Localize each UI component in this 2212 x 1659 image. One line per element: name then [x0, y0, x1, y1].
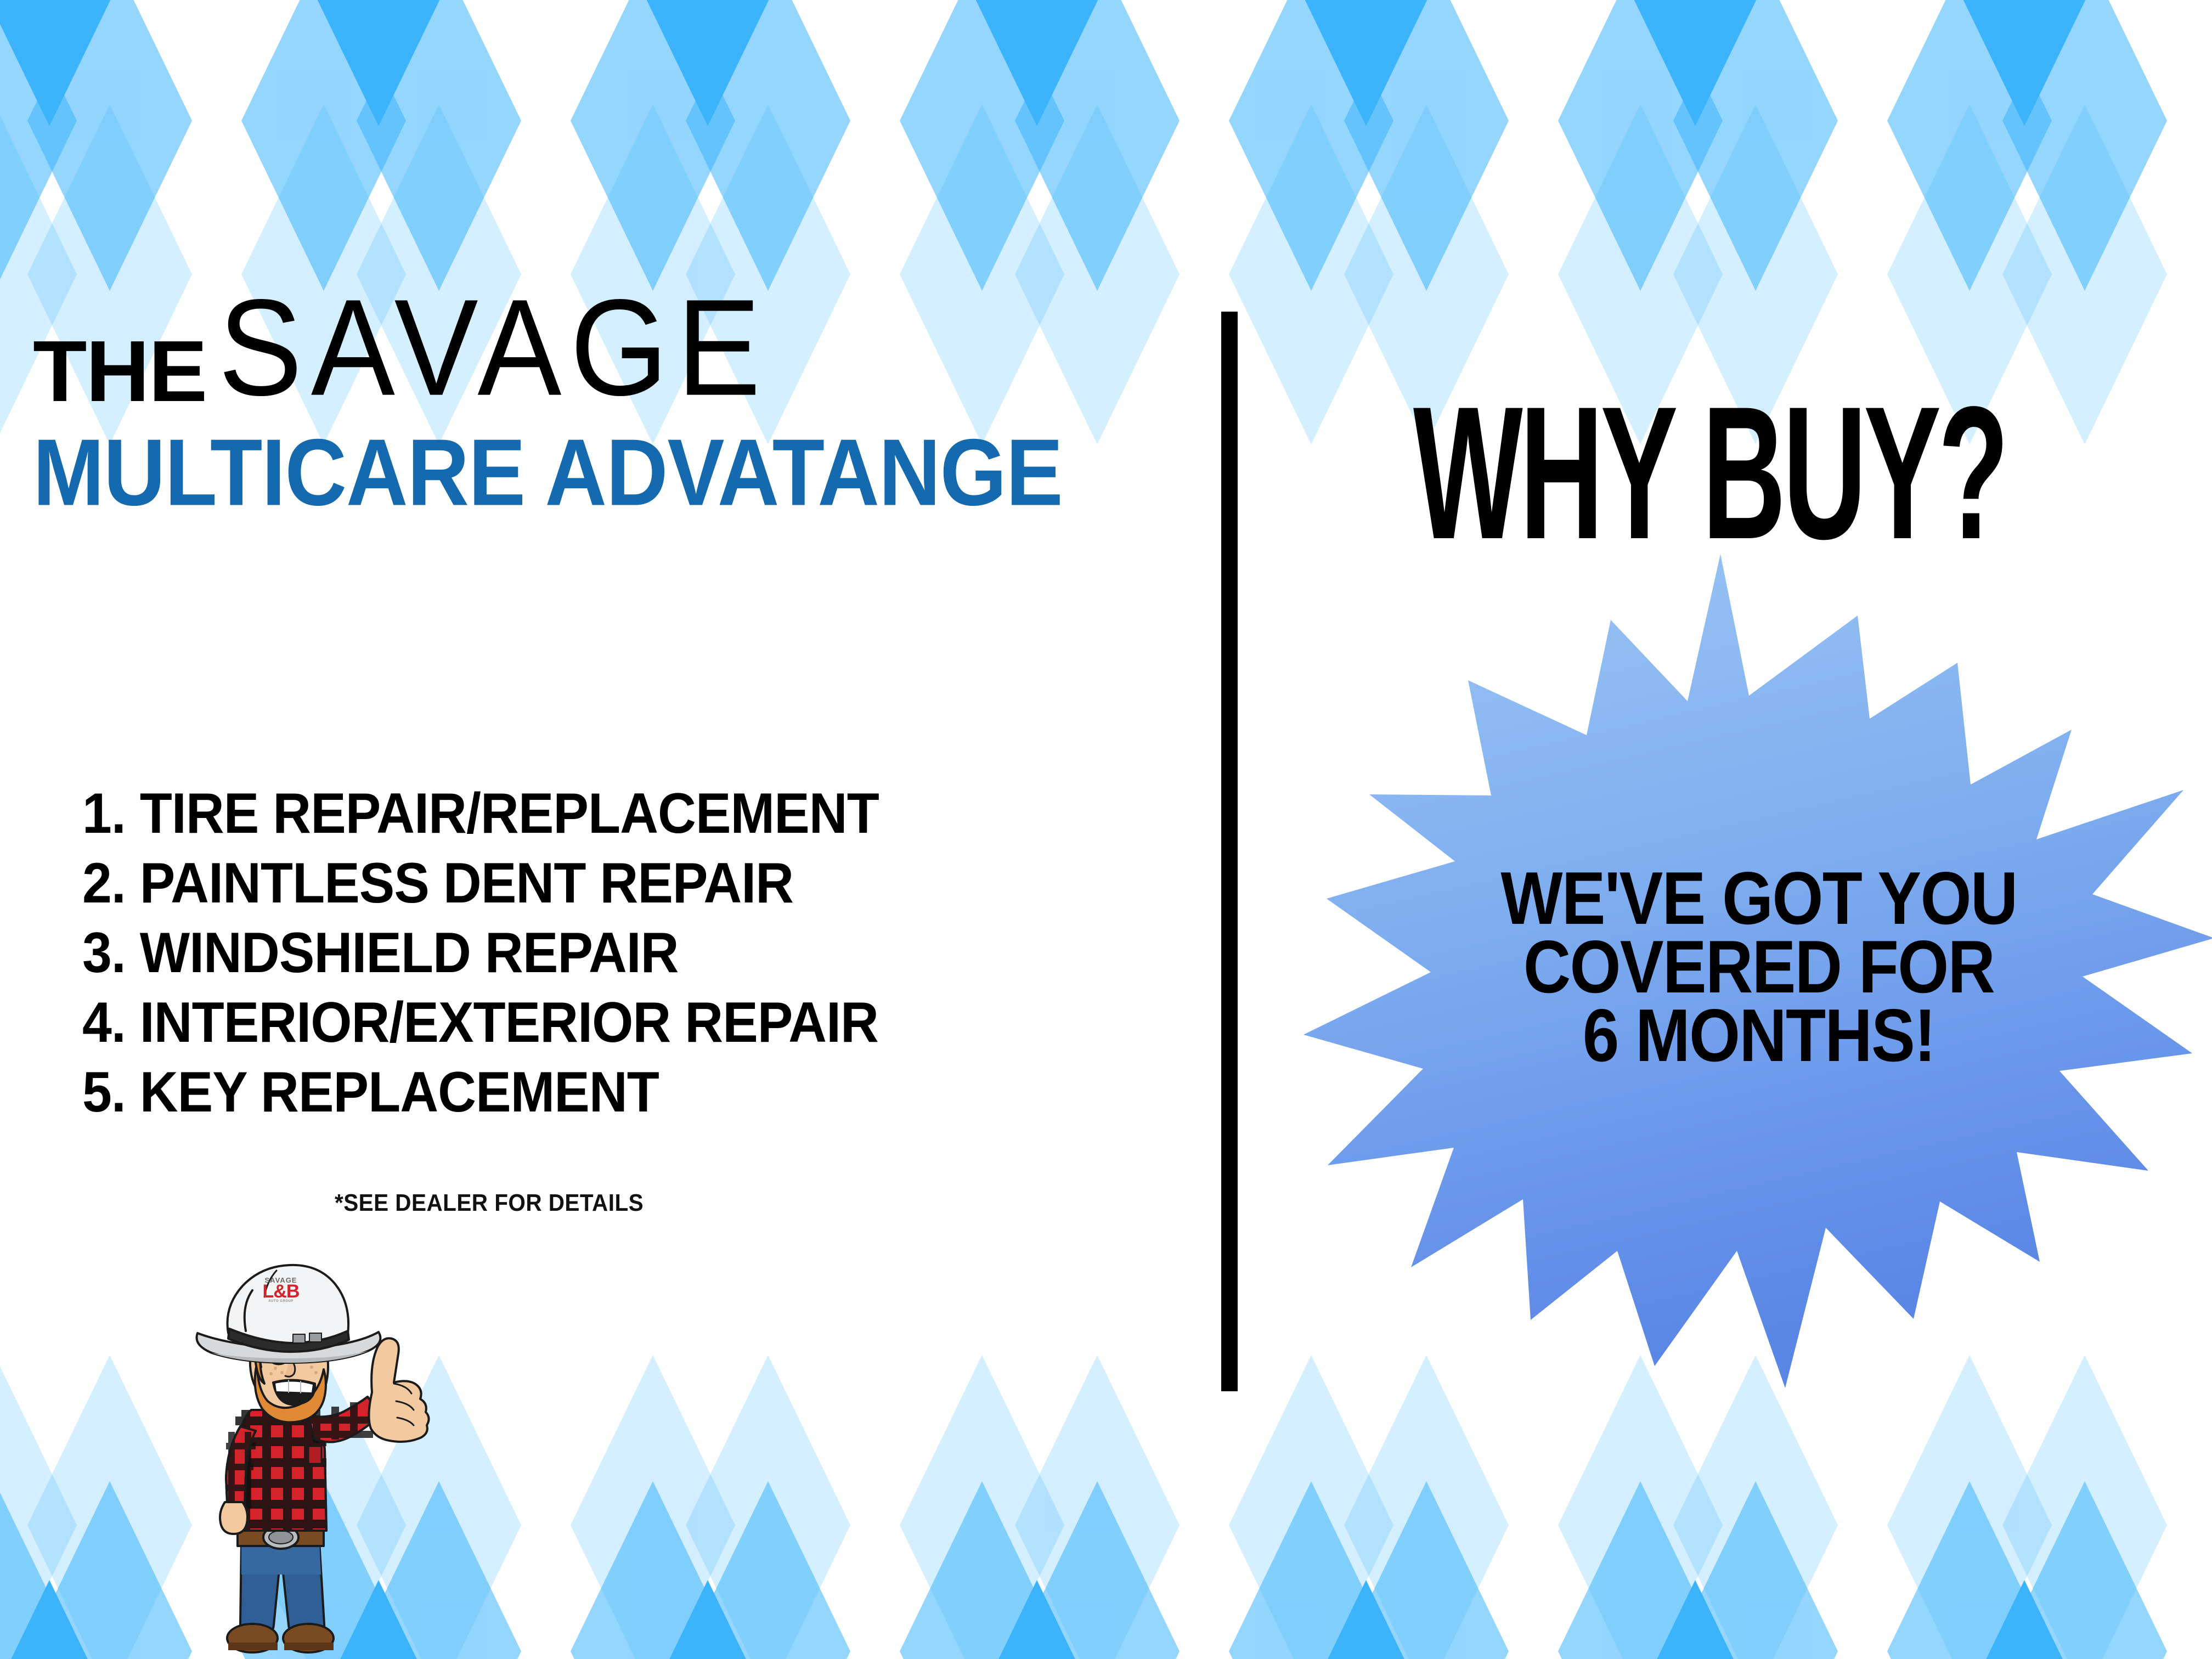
- starburst-line-3: 6 MONTHS!: [1358, 1001, 2160, 1070]
- headline-savage: SAVAGE: [218, 285, 769, 411]
- hat-logo-lb-text: L&B: [242, 1284, 319, 1300]
- list-item: 1. TIRE REPAIR/REPLACEMENT: [82, 779, 1077, 849]
- vertical-divider: [1221, 312, 1238, 1391]
- promo-flyer: THE SAVAGE MULTICARE ADVATANGE 1. TIRE R…: [0, 0, 2212, 1659]
- hat-logo: SAVAGE L&B AUTO GROUP: [242, 1277, 319, 1303]
- right-panel: WHY BUY? WE'VE GOT YOU COVERED FOR 6 MON…: [1238, 0, 2212, 1659]
- mascot-illustration: [159, 1245, 433, 1659]
- mascot-cowboy-character: SAVAGE L&B AUTO GROUP: [159, 1245, 433, 1659]
- hat-logo-subtext: AUTO GROUP: [242, 1300, 319, 1303]
- why-buy-heading: WHY BUY?: [1413, 379, 2006, 568]
- starburst-line-1: WE'VE GOT YOU: [1358, 864, 2160, 933]
- list-item: 4. INTERIOR/EXTERIOR REPAIR: [82, 988, 1077, 1058]
- headline-subtitle: MULTICARE ADVATANGE: [33, 426, 1412, 521]
- title-block: THE SAVAGE MULTICARE ADVATANGE: [33, 307, 1163, 496]
- headline-row: THE SAVAGE: [33, 307, 1163, 411]
- headline-the: THE: [33, 332, 206, 411]
- services-list: 1. TIRE REPAIR/REPLACEMENT 2. PAINTLESS …: [82, 779, 1152, 1127]
- list-item: 3. WINDSHIELD REPAIR: [82, 918, 1077, 988]
- list-item: 2. PAINTLESS DENT REPAIR: [82, 849, 1077, 918]
- disclaimer-text: *SEE DEALER FOR DETAILS: [335, 1189, 644, 1217]
- starburst-line-2: COVERED FOR: [1358, 933, 2160, 1001]
- starburst-text-block: WE'VE GOT YOU COVERED FOR 6 MONTHS!: [1304, 864, 2212, 1070]
- list-item: 5. KEY REPLACEMENT: [82, 1058, 1077, 1127]
- starburst-badge: WE'VE GOT YOU COVERED FOR 6 MONTHS!: [1304, 554, 2212, 1388]
